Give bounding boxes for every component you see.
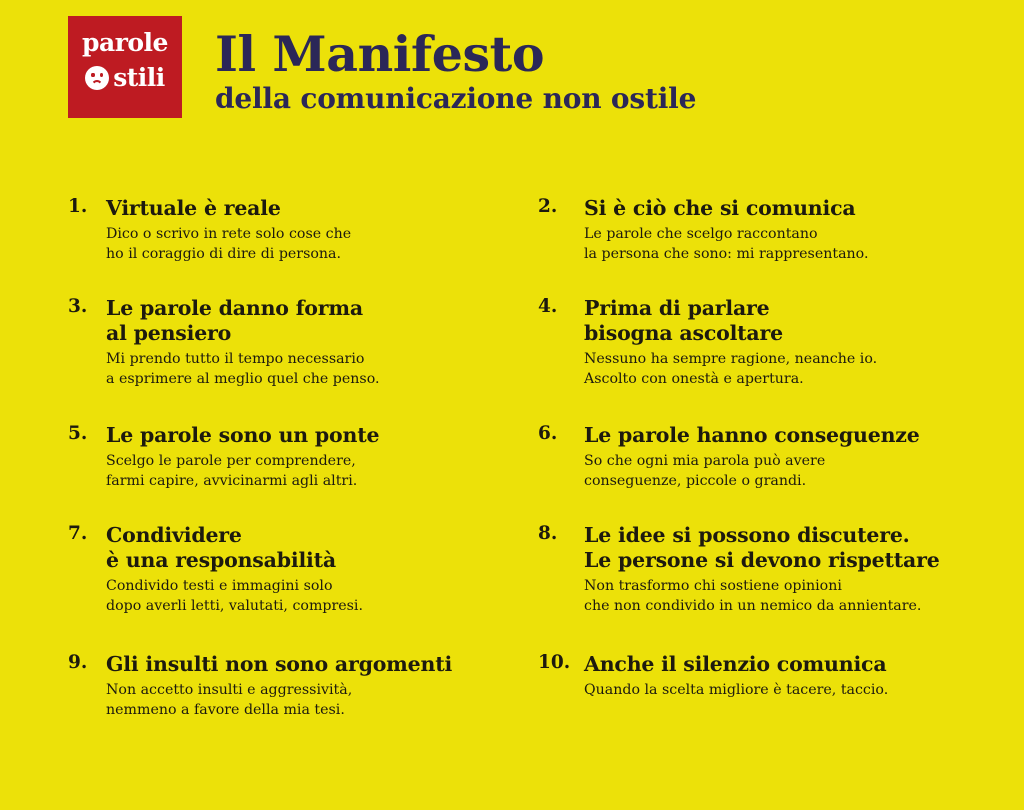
principle-body: Mi prendo tutto il tempo necessario a es… [106, 346, 498, 389]
principle-title-line1: Condividere [106, 523, 242, 547]
principle-body-line1: Mi prendo tutto il tempo necessario [106, 351, 364, 367]
principle-title: Le parole hanno conseguenze [584, 423, 978, 448]
principle-title-line1: Le idee si possono discutere. [584, 523, 910, 547]
principle-title: Prima di parlare bisogna ascoltare [584, 296, 978, 346]
principle-title-line1: Si è ciò che si comunica [584, 196, 855, 220]
principle-item-8: 8. Le idee si possono discutere. Le pers… [538, 523, 978, 616]
principle-heading: 10. Anche il silenzio comunica [538, 652, 978, 677]
principle-body-line1: Scelgo le parole per comprendere, [106, 453, 356, 469]
principle-item-7: 7. Condividere è una responsabilità Cond… [68, 523, 498, 616]
principle-item-5: 5. Le parole sono un ponte Scelgo le par… [68, 423, 498, 491]
principle-body-line1: Nessuno ha sempre ragione, neanche io. [584, 351, 877, 367]
principle-title: Le parole danno forma al pensiero [106, 296, 498, 346]
principle-body: Non trasformo chi sostiene opinioni che … [584, 573, 978, 616]
page-title: Il Manifesto [215, 30, 696, 80]
principle-body-line1: Quando la scelta migliore è tacere, tacc… [584, 682, 888, 698]
principle-body: Dico o scrivo in rete solo cose che ho i… [106, 221, 498, 264]
principle-body-line1: Non trasformo chi sostiene opinioni [584, 578, 842, 594]
principle-title: Le idee si possono discutere. Le persone… [584, 523, 978, 573]
principle-title-line2: bisogna ascoltare [584, 321, 978, 346]
principle-title-line2: al pensiero [106, 321, 498, 346]
principle-heading: 9. Gli insulti non sono argomenti [68, 652, 498, 677]
principle-number: 2. [538, 196, 584, 219]
principle-body-line2: a esprimere al meglio quel che penso. [106, 369, 498, 389]
page-subtitle: della comunicazione non ostile [215, 84, 696, 115]
principle-item-2: 2. Si è ciò che si comunica Le parole ch… [538, 196, 978, 264]
principle-number: 4. [538, 296, 584, 319]
parole-ostili-logo: parole stili [68, 16, 182, 118]
principle-title-line1: Virtuale è reale [106, 196, 281, 220]
principle-number: 9. [68, 652, 106, 675]
principle-body: Nessuno ha sempre ragione, neanche io. A… [584, 346, 978, 389]
principle-body-line2: conseguenze, piccole o grandi. [584, 471, 978, 491]
principle-body: Non accetto insulti e aggressività, nemm… [106, 677, 498, 720]
principle-number: 1. [68, 196, 106, 219]
principle-title-line1: Le parole hanno conseguenze [584, 423, 920, 447]
principle-body-line1: Condivido testi e immagini solo [106, 578, 332, 594]
principle-body-line2: nemmeno a favore della mia tesi. [106, 700, 498, 720]
principle-body: Quando la scelta migliore è tacere, tacc… [584, 677, 978, 700]
principle-item-3: 3. Le parole danno forma al pensiero Mi … [68, 296, 498, 389]
principle-item-4: 4. Prima di parlare bisogna ascoltare Ne… [538, 296, 978, 389]
principle-body-line1: Non accetto insulti e aggressività, [106, 682, 352, 698]
principle-item-10: 10. Anche il silenzio comunica Quando la… [538, 652, 978, 700]
principle-number: 6. [538, 423, 584, 446]
sad-face-icon [85, 66, 109, 90]
principle-body: Condivido testi e immagini solo dopo ave… [106, 573, 498, 616]
principle-number: 5. [68, 423, 106, 446]
poster-header: parole stili Il Manifesto della comunica… [0, 0, 1024, 140]
principle-title: Virtuale è reale [106, 196, 498, 221]
principle-heading: 1. Virtuale è reale [68, 196, 498, 221]
principle-title-line2: è una responsabilità [106, 548, 498, 573]
principle-body-line1: Le parole che scelgo raccontano [584, 226, 818, 242]
principle-item-6: 6. Le parole hanno conseguenze So che og… [538, 423, 978, 491]
principle-body-line2: dopo averli letti, valutati, compresi. [106, 596, 498, 616]
principle-body-line2: Ascolto con onestà e apertura. [584, 369, 978, 389]
principle-body-line2: che non condivido in un nemico da annien… [584, 596, 978, 616]
principle-title: Gli insulti non sono argomenti [106, 652, 498, 677]
principle-heading: 4. Prima di parlare bisogna ascoltare [538, 296, 978, 346]
principle-title-line1: Prima di parlare [584, 296, 770, 320]
title-block: Il Manifesto della comunicazione non ost… [215, 30, 696, 115]
principle-body-line1: So che ogni mia parola può avere [584, 453, 825, 469]
principle-title-line2: Le persone si devono rispettare [584, 548, 978, 573]
principle-body: Scelgo le parole per comprendere, farmi … [106, 448, 498, 491]
principle-body-line1: Dico o scrivo in rete solo cose che [106, 226, 351, 242]
principle-body-line2: farmi capire, avvicinarmi agli altri. [106, 471, 498, 491]
principle-item-1: 1. Virtuale è reale Dico o scrivo in ret… [68, 196, 498, 264]
principle-number: 10. [538, 652, 584, 675]
principle-title-line1: Le parole danno forma [106, 296, 363, 320]
principle-body: So che ogni mia parola può avere consegu… [584, 448, 978, 491]
principle-body-line2: ho il coraggio di dire di persona. [106, 244, 498, 264]
principle-body-line2: la persona che sono: mi rappresentano. [584, 244, 978, 264]
principle-body: Le parole che scelgo raccontano la perso… [584, 221, 978, 264]
principle-title: Condividere è una responsabilità [106, 523, 498, 573]
principle-heading: 8. Le idee si possono discutere. Le pers… [538, 523, 978, 573]
principle-title-line1: Gli insulti non sono argomenti [106, 652, 452, 676]
principle-heading: 3. Le parole danno forma al pensiero [68, 296, 498, 346]
principle-item-9: 9. Gli insulti non sono argomenti Non ac… [68, 652, 498, 720]
principle-title: Anche il silenzio comunica [584, 652, 978, 677]
principle-title-line1: Le parole sono un ponte [106, 423, 379, 447]
principle-number: 3. [68, 296, 106, 319]
principle-title-line1: Anche il silenzio comunica [584, 652, 886, 676]
principle-title: Si è ciò che si comunica [584, 196, 978, 221]
principle-heading: 5. Le parole sono un ponte [68, 423, 498, 448]
principle-title: Le parole sono un ponte [106, 423, 498, 448]
logo-second-line: stili [68, 65, 182, 90]
principle-number: 8. [538, 523, 584, 546]
principle-number: 7. [68, 523, 106, 546]
principle-heading: 6. Le parole hanno conseguenze [538, 423, 978, 448]
principle-heading: 7. Condividere è una responsabilità [68, 523, 498, 573]
logo-word-stili: stili [113, 65, 165, 90]
principle-heading: 2. Si è ciò che si comunica [538, 196, 978, 221]
logo-word-parole: parole [68, 30, 182, 55]
